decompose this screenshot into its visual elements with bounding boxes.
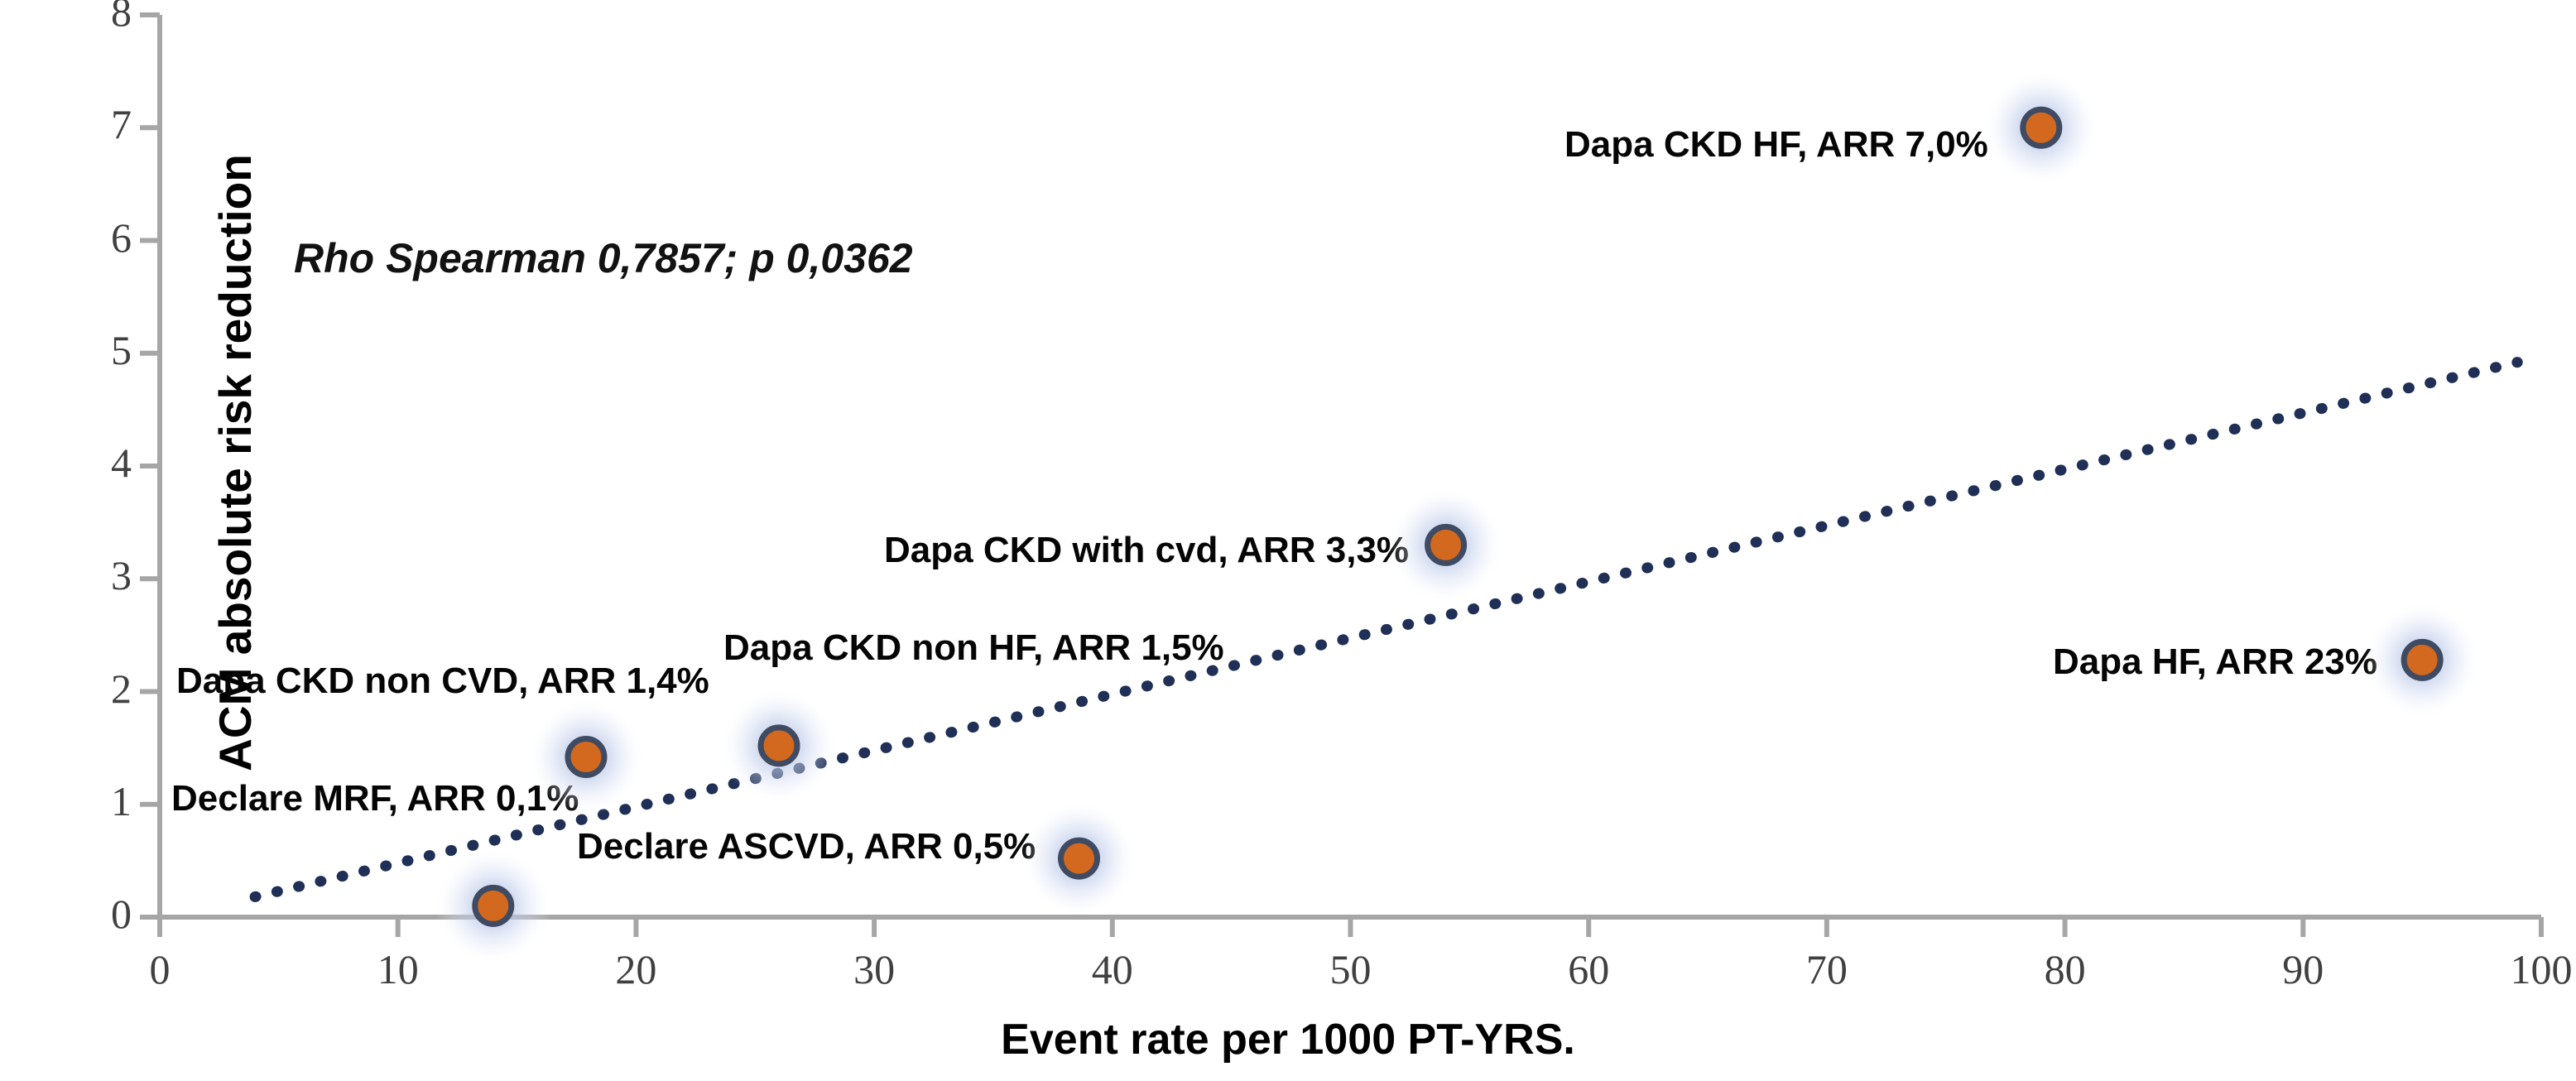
x-tick-label: 10 [332,945,464,993]
x-tick-label: 60 [1522,945,1655,993]
data-point-marker [761,728,797,764]
trendline [255,363,2517,897]
x-tick-label: 20 [570,945,702,993]
data-point-label: Dapa CKD HF, ARR 7,0% [1564,124,1988,166]
y-tick-label: 8 [32,0,132,36]
x-tick-label: 70 [1761,945,1893,993]
data-point-label: Dapa CKD non CVD, ARR 1,4% [176,661,709,702]
data-point-marker [475,887,512,924]
x-tick-label: 100 [2475,945,2576,993]
y-tick-label: 7 [32,100,132,148]
data-point-glow [721,688,838,805]
data-point-marker [1428,526,1464,563]
data-point-label: Dapa HF, ARR 23% [2053,641,2377,683]
data-point-marker [2023,109,2059,146]
y-tick-label: 6 [32,214,132,262]
data-point[interactable] [721,688,838,805]
x-tick-label: 0 [94,945,226,993]
y-tick-label: 3 [32,551,132,599]
y-tick-label: 0 [32,890,132,938]
data-point-glow [1021,800,1137,917]
data-point-label: Declare ASCVD, ARR 0,5% [577,826,1036,867]
data-point-label: Dapa CKD non HF, ARR 1,5% [723,627,1224,669]
x-tick-label: 50 [1285,945,1417,993]
y-tick-label: 5 [32,326,132,374]
trendline-path [255,363,2517,897]
y-tick-label: 4 [32,439,132,487]
x-tick-label: 40 [1046,945,1179,993]
x-axis-title: Event rate per 1000 PT-YRS. [0,1015,2576,1064]
data-point-marker [2404,641,2440,678]
data-point[interactable] [1021,800,1137,917]
data-point[interactable] [2364,602,2481,718]
y-tick-label: 1 [32,777,132,825]
y-tick-label: 2 [32,665,132,713]
data-point-glow [2364,602,2481,718]
spearman-annotation: Rho Spearman 0,7857; p 0,0362 [294,234,913,282]
data-point-marker [568,739,604,776]
data-point-marker [1061,840,1098,877]
data-point[interactable] [1982,70,2099,186]
scatter-chart: ACM absolute risk reduction Event rate p… [0,0,2576,1081]
x-tick-label: 80 [1999,945,2131,993]
x-tick-label: 30 [808,945,940,993]
x-tick-label: 90 [2237,945,2369,993]
data-point-label: Dapa CKD with cvd, ARR 3,3% [884,530,1409,571]
data-point-label: Declare MRF, ARR 0,1% [171,778,579,819]
data-point-glow [1982,70,2099,186]
